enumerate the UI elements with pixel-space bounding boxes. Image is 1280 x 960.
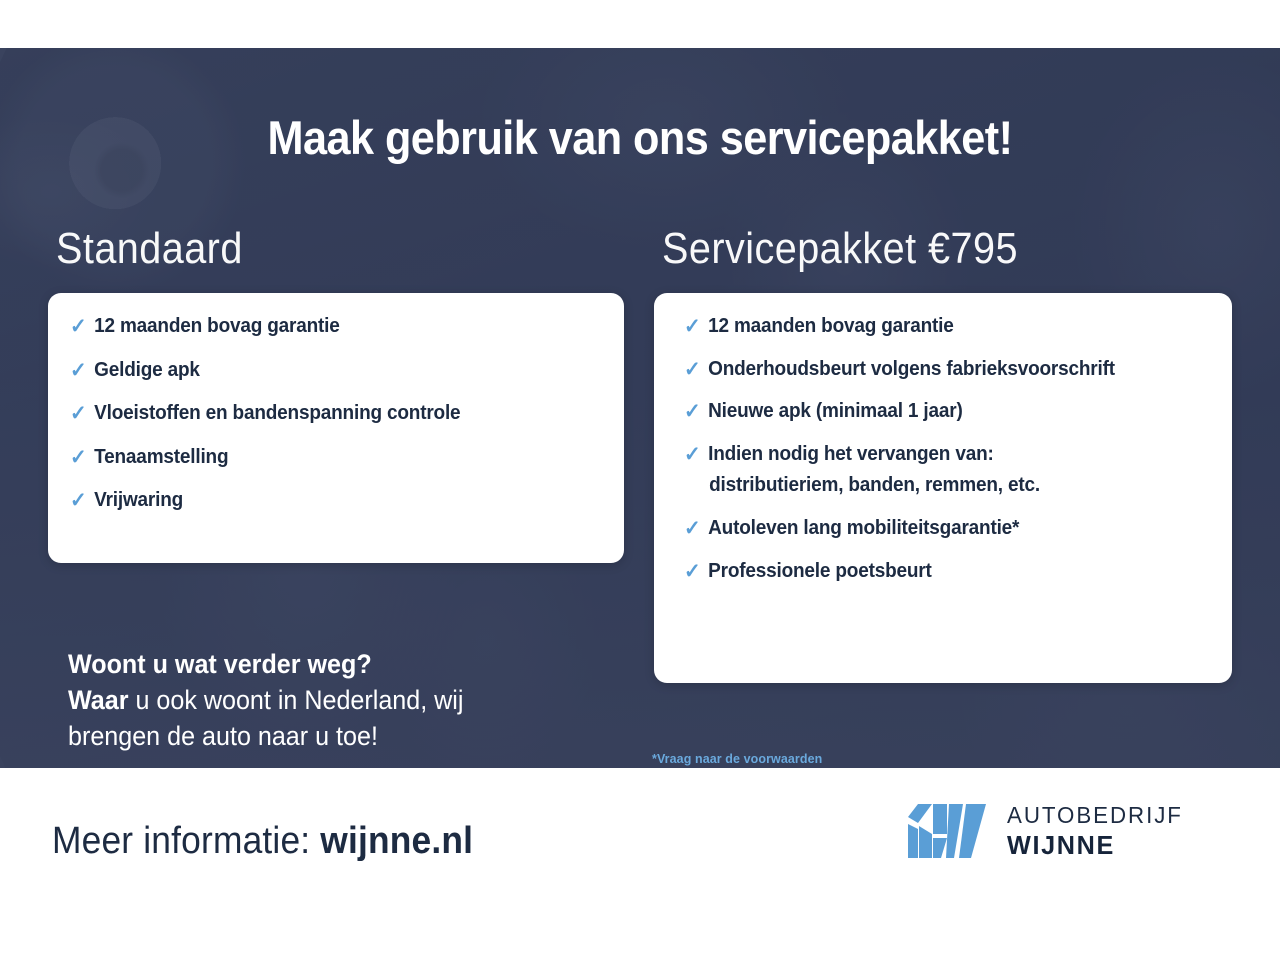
hero-title: Maak gebruik van ons servicepakket! [51,110,1229,165]
check-icon: ✓ [70,315,87,337]
check-icon: ✓ [70,402,87,424]
website-link[interactable]: wijnne.nl [320,820,473,862]
list-item: ✓ Nieuwe apk (minimaal 1 jaar) [684,400,1205,424]
list-item: ✓ 12 maanden bovag garantie [684,315,1205,339]
list-item: ✓ Indien nodig het vervangen van: distri… [684,443,1205,498]
check-icon: ✓ [70,489,87,511]
feature-label: Geldige apk [94,359,200,383]
premium-feature-list: ✓ 12 maanden bovag garantie ✓ Onderhouds… [654,293,1232,583]
check-icon: ✓ [684,358,701,380]
feature-label: 12 maanden bovag garantie [708,315,954,339]
feature-label: Vloeistoffen en bandenspanning controle [94,402,460,426]
conditions-footnote: *Vraag naar de voorwaarden [652,751,822,766]
premium-column-heading: Servicepakket €795 [662,224,1018,274]
standard-package-card: ✓ 12 maanden bovag garantie ✓ Geldige ap… [48,293,624,563]
promo-rest: u ook woont in Nederland, wij [128,685,463,715]
list-item: ✓ Autoleven lang mobiliteitsgarantie* [684,517,1205,541]
poster-canvas: Maak gebruik van ons servicepakket! Stan… [0,0,1280,960]
promo-line-3: brengen de auto naar u toe! [68,718,589,754]
list-item: ✓ Geldige apk [70,359,596,383]
hero-banner: Maak gebruik van ons servicepakket! Stan… [0,48,1280,768]
feature-label: Professionele poetsbeurt [708,560,932,584]
check-icon: ✓ [684,517,701,539]
logo-top-line: AUTOBEDRIJF [1007,804,1183,827]
promo-emphasis: Waar [68,685,128,715]
promo-question: Woont u wat verder weg? [68,649,372,679]
list-item: ✓ 12 maanden bovag garantie [70,315,596,339]
feature-label: Onderhoudsbeurt volgens fabrieksvoorschr… [708,358,1115,382]
check-icon: ✓ [684,443,701,465]
more-info-text: Meer informatie: wijnne.nl [52,820,473,863]
promo-line-1: Woont u wat verder weg? [68,646,589,682]
feature-label: 12 maanden bovag garantie [94,315,340,339]
feature-label: Autoleven lang mobiliteitsgarantie* [708,517,1019,541]
feature-label: Vrijwaring [94,489,183,513]
feature-label-group: Indien nodig het vervangen van: distribu… [708,443,1040,498]
check-icon: ✓ [70,446,87,468]
logo-bottom-line: WIJNNE [1007,832,1183,858]
wijnne-w-logo-icon [908,804,990,858]
list-item: ✓ Onderhoudsbeurt volgens fabrieksvoorsc… [684,358,1205,382]
premium-package-card: ✓ 12 maanden bovag garantie ✓ Onderhouds… [654,293,1232,683]
standard-column-heading: Standaard [56,224,243,274]
logo-wordmark: AUTOBEDRIJF WIJNNE [1007,804,1188,858]
list-item: ✓ Vrijwaring [70,489,596,513]
feature-label: Tenaamstelling [94,446,228,470]
promo-line-2: Waar u ook woont in Nederland, wij [68,682,589,718]
feature-label: Nieuwe apk (minimaal 1 jaar) [708,400,962,424]
delivery-promo-text: Woont u wat verder weg? Waar u ook woont… [68,646,589,755]
brand-logo[interactable]: AUTOBEDRIJF WIJNNE [908,804,1188,858]
list-item: ✓ Vloeistoffen en bandenspanning control… [70,402,596,426]
check-icon: ✓ [70,359,87,381]
more-info-label: Meer informatie: [52,820,320,862]
standard-feature-list: ✓ 12 maanden bovag garantie ✓ Geldige ap… [48,293,624,513]
check-icon: ✓ [684,315,701,337]
list-item: ✓ Professionele poetsbeurt [684,560,1205,584]
check-icon: ✓ [684,560,701,582]
feature-label: Indien nodig het vervangen van: [708,443,993,465]
list-item: ✓ Tenaamstelling [70,446,596,470]
feature-sublabel: distributieriem, banden, remmen, etc. [708,474,1040,498]
check-icon: ✓ [684,400,701,422]
footer-bar: Meer informatie: wijnne.nl AUTOBEDRIJF W… [0,768,1280,960]
